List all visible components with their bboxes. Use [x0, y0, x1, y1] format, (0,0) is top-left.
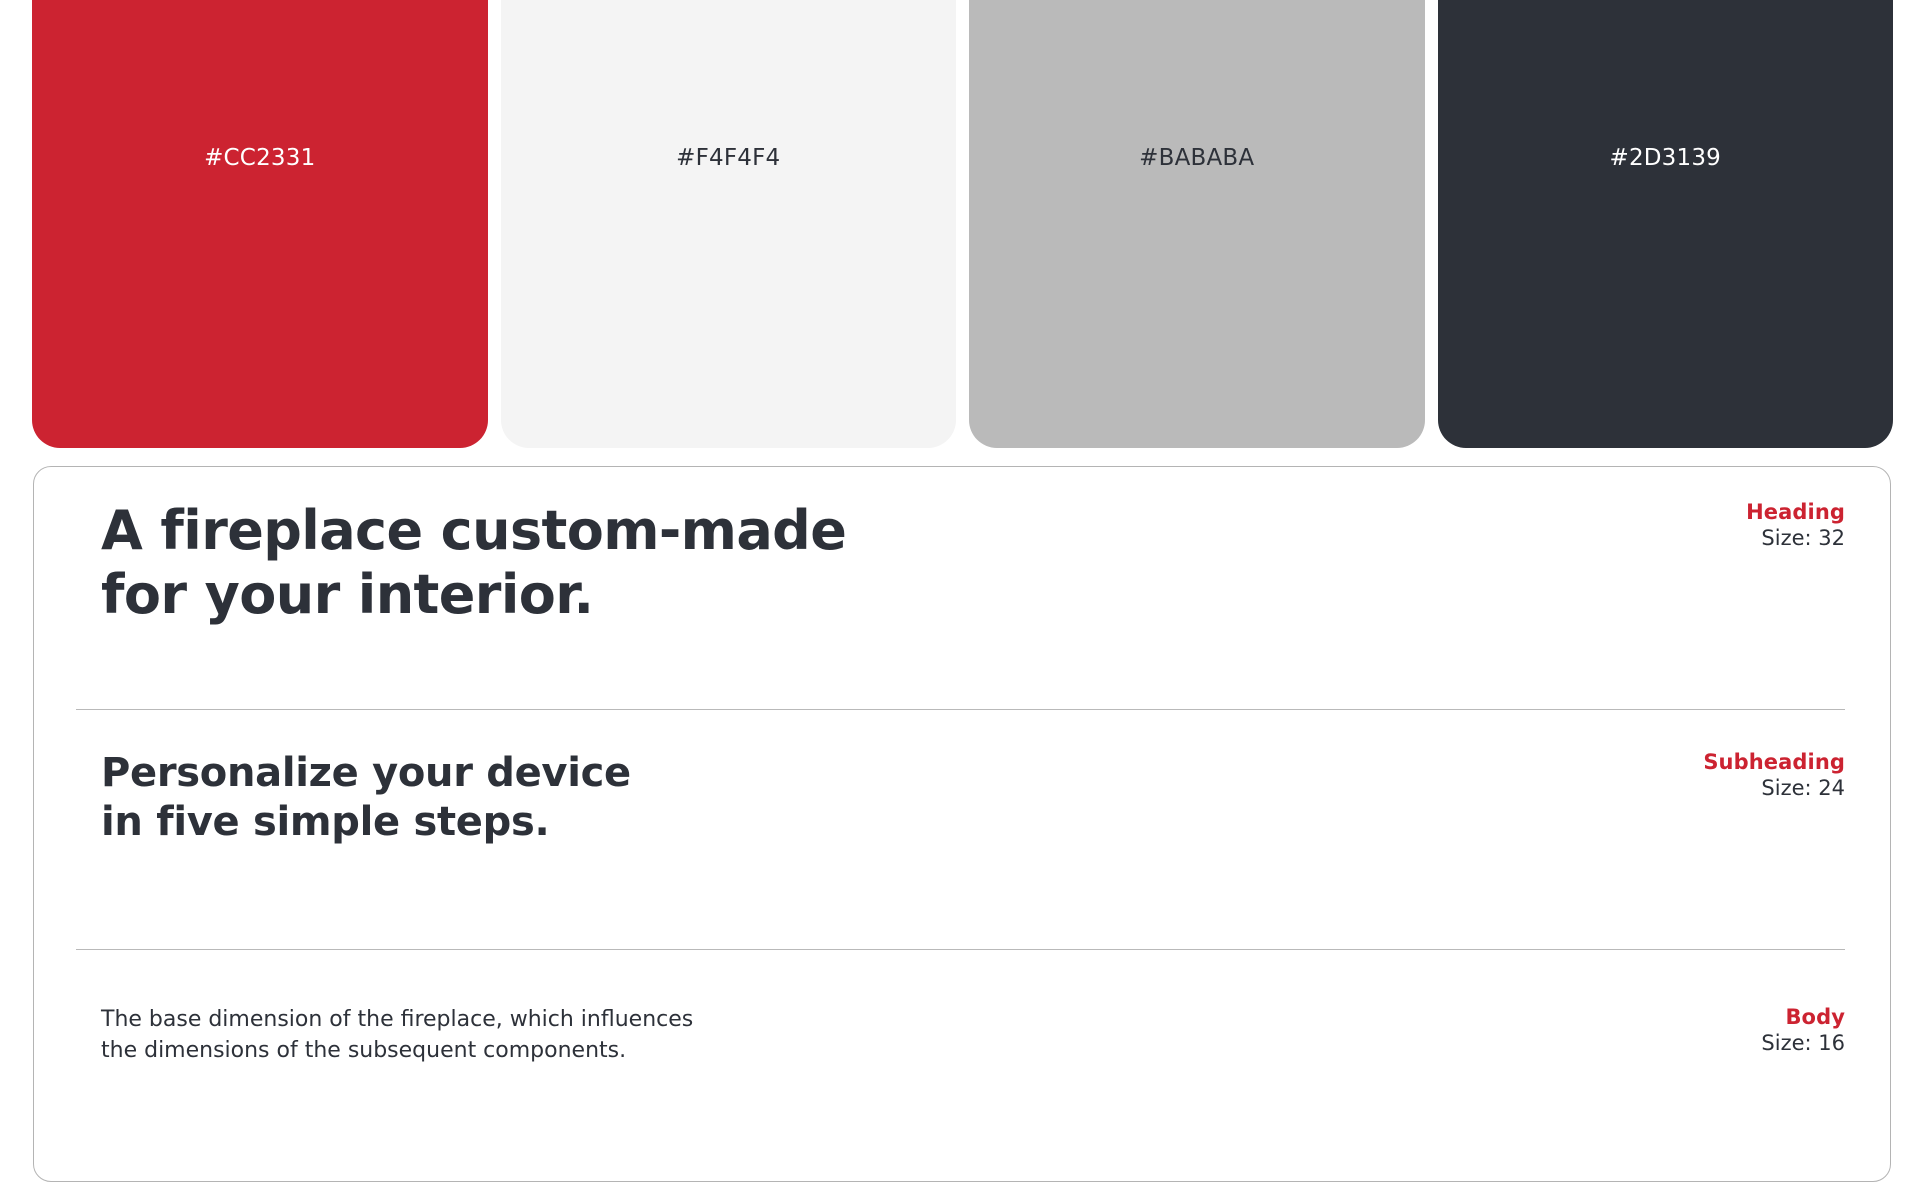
typography-row-subheading: Personalize your device in five simple s…	[34, 709, 1890, 949]
subheading-kind-label: Subheading	[1703, 749, 1845, 775]
typography-row-body: The base dimension of the fireplace, whi…	[34, 949, 1890, 1179]
body-meta: Body Size: 16	[1731, 1004, 1845, 1058]
heading-sample-text: A fireplace custom-made for your interio…	[76, 499, 1716, 626]
body-kind-label: Body	[1761, 1004, 1845, 1030]
body-sample-text: The base dimension of the fireplace, whi…	[76, 1004, 1731, 1066]
color-swatch-label: #F4F4F4	[501, 147, 957, 170]
heading-size-label: Size: 32	[1746, 525, 1845, 552]
heading-meta: Heading Size: 32	[1716, 499, 1845, 553]
color-swatch-primary-red[interactable]: #CC2331	[32, 0, 488, 448]
color-swatch-light-gray[interactable]: #F4F4F4	[501, 0, 957, 448]
color-swatch-label: #BABABA	[969, 147, 1425, 170]
color-swatch-label: #2D3139	[1438, 147, 1894, 170]
subheading-sample-container: Personalize your device in five simple s…	[76, 749, 1673, 847]
color-swatch-dark-charcoal[interactable]: #2D3139	[1438, 0, 1894, 448]
typography-card: A fireplace custom-made for your interio…	[33, 466, 1891, 1182]
color-palette: #CC2331 #F4F4F4 #BABABA #2D3139	[32, 0, 1893, 448]
row-divider	[76, 949, 1845, 950]
heading-sample-container: A fireplace custom-made for your interio…	[76, 499, 1716, 626]
row-divider	[76, 709, 1845, 710]
typography-row-heading: A fireplace custom-made for your interio…	[34, 467, 1890, 709]
color-swatch-mid-gray[interactable]: #BABABA	[969, 0, 1425, 448]
body-size-label: Size: 16	[1761, 1030, 1845, 1057]
subheading-sample-text: Personalize your device in five simple s…	[76, 749, 1673, 847]
subheading-size-label: Size: 24	[1703, 775, 1845, 802]
style-guide-page: #CC2331 #F4F4F4 #BABABA #2D3139 A firepl…	[0, 0, 1920, 1192]
color-swatch-label: #CC2331	[32, 147, 488, 170]
heading-kind-label: Heading	[1746, 499, 1845, 525]
body-sample-container: The base dimension of the fireplace, whi…	[76, 1004, 1731, 1066]
subheading-meta: Subheading Size: 24	[1673, 749, 1845, 803]
